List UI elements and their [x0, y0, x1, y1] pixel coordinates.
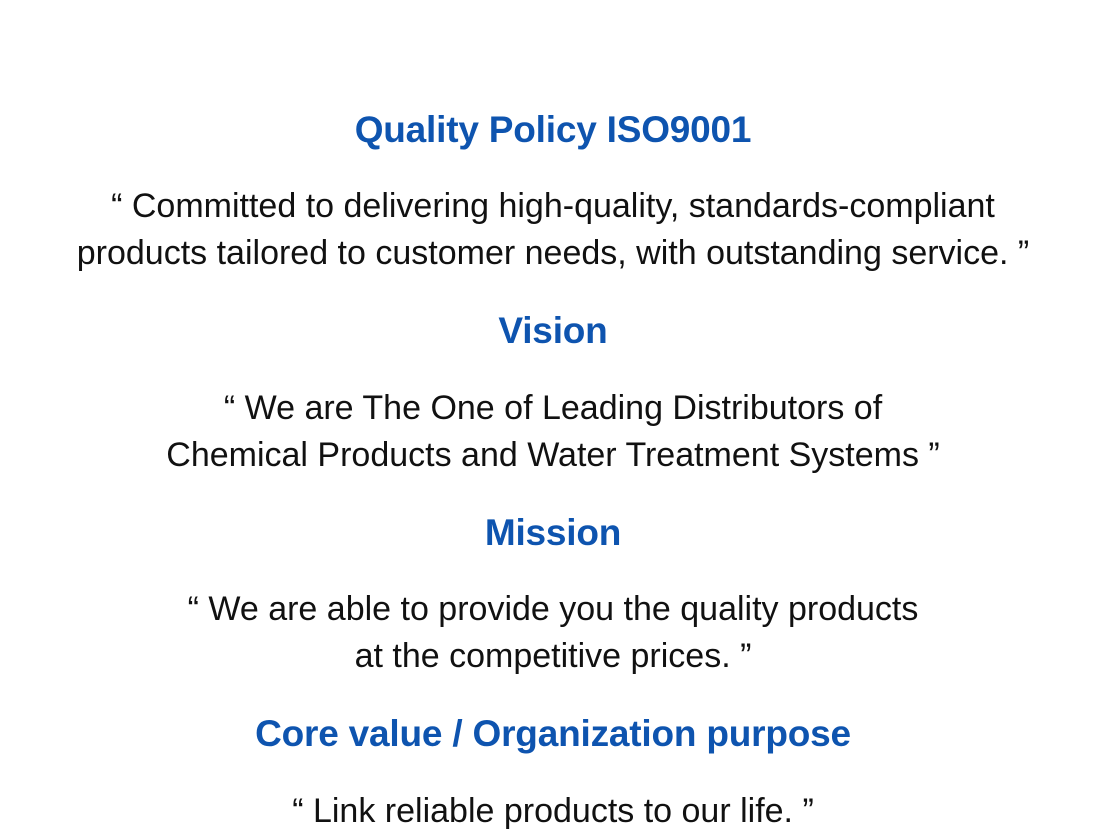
section-body-mission: “ We are able to provide you the quality… — [0, 586, 1106, 680]
body-line: “ Committed to delivering high-quality, … — [0, 183, 1106, 230]
section-heading-quality-policy: Quality Policy ISO9001 — [0, 107, 1106, 153]
body-line: “ Link reliable products to our life. ” — [0, 788, 1106, 835]
section-body-quality-policy: “ Committed to delivering high-quality, … — [0, 183, 1106, 277]
body-line: products tailored to customer needs, wit… — [0, 230, 1106, 277]
statements-page: Quality Policy ISO9001 “ Committed to de… — [0, 0, 1106, 810]
body-line: at the competitive prices. ” — [0, 633, 1106, 680]
section-vision: Vision “ We are The One of Leading Distr… — [0, 277, 1106, 478]
section-heading-core-value: Core value / Organization purpose — [0, 711, 1106, 757]
body-line: “ We are able to provide you the quality… — [0, 586, 1106, 633]
body-line: “ We are The One of Leading Distributors… — [0, 385, 1106, 432]
section-core-value: Core value / Organization purpose “ Link… — [0, 680, 1106, 834]
section-quality-policy: Quality Policy ISO9001 “ Committed to de… — [0, 76, 1106, 277]
section-mission: Mission “ We are able to provide you the… — [0, 479, 1106, 680]
body-line: Chemical Products and Water Treatment Sy… — [0, 432, 1106, 479]
section-body-vision: “ We are The One of Leading Distributors… — [0, 385, 1106, 479]
section-heading-mission: Mission — [0, 510, 1106, 556]
section-heading-vision: Vision — [0, 308, 1106, 354]
section-body-core-value: “ Link reliable products to our life. ” — [0, 788, 1106, 835]
